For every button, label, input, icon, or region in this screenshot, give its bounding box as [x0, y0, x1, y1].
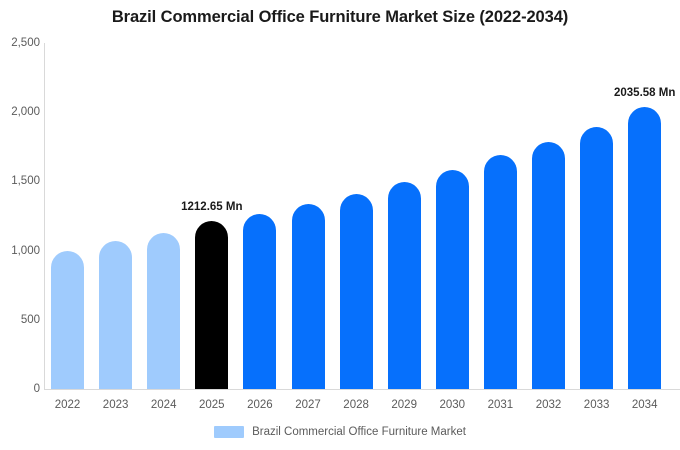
- bar-2030[interactable]: [436, 170, 469, 390]
- x-axis-line: [44, 389, 680, 390]
- y-axis-tick-label: 2,000: [2, 106, 40, 118]
- bar-2032[interactable]: [532, 142, 565, 389]
- chart-legend: Brazil Commercial Office Furniture Marke…: [0, 426, 680, 438]
- bar-slot: [147, 43, 180, 389]
- bar-2026[interactable]: [243, 214, 276, 389]
- y-axis-tick-label: 500: [2, 314, 40, 326]
- bar-2025[interactable]: [195, 221, 228, 389]
- bar-value-label-2034: 2035.58 Mn: [614, 87, 675, 99]
- y-axis-tick-labels: 05001,0001,5002,0002,500: [0, 0, 40, 450]
- bar-slot: [484, 43, 517, 389]
- bar-slot: [532, 43, 565, 389]
- bar-slot: [243, 43, 276, 389]
- bar-2034[interactable]: [628, 107, 661, 389]
- bar-2022[interactable]: [51, 251, 84, 389]
- y-axis-tick-label: 2,500: [2, 37, 40, 49]
- chart-title: Brazil Commercial Office Furniture Marke…: [0, 8, 680, 27]
- bar-2023[interactable]: [99, 241, 132, 389]
- bar-slot: [340, 43, 373, 389]
- legend-swatch-icon: [214, 426, 244, 438]
- bar-slot: [51, 43, 84, 389]
- bar-slot: 1212.65 Mn: [195, 43, 228, 389]
- bar-slot: [292, 43, 325, 389]
- bar-2029[interactable]: [388, 182, 421, 389]
- plot-area: 1212.65 Mn2035.58 Mn: [44, 43, 680, 389]
- chart-container: Brazil Commercial Office Furniture Marke…: [0, 0, 680, 450]
- x-axis-tick-label-2034: 2034: [615, 399, 675, 411]
- bar-2031[interactable]: [484, 155, 517, 389]
- bar-2027[interactable]: [292, 204, 325, 389]
- bar-slot: [388, 43, 421, 389]
- bar-slot: [99, 43, 132, 389]
- bar-slot: 2035.58 Mn: [628, 43, 661, 389]
- y-axis-tick-label: 1,000: [2, 245, 40, 257]
- legend-label: Brazil Commercial Office Furniture Marke…: [252, 426, 466, 438]
- bar-value-label-2025: 1212.65 Mn: [181, 201, 242, 213]
- bar-slot: [580, 43, 613, 389]
- bar-2024[interactable]: [147, 233, 180, 389]
- y-axis-tick-label: 0: [2, 383, 40, 395]
- bar-2033[interactable]: [580, 127, 613, 389]
- bar-slot: [436, 43, 469, 389]
- y-axis-tick-label: 1,500: [2, 175, 40, 187]
- bar-2028[interactable]: [340, 194, 373, 389]
